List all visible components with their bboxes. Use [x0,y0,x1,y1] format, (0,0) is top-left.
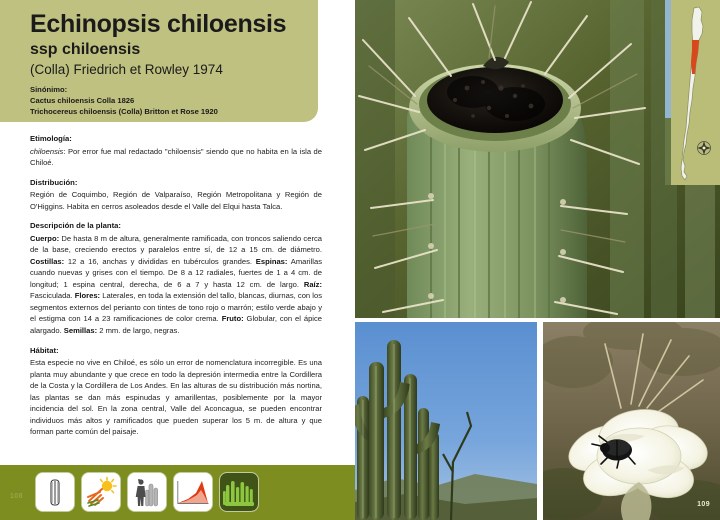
section-heading: Etimología: [30,133,322,145]
flower-beetle-photo [543,322,720,520]
title-panel: Echinopsis chiloensis ssp chiloensis (Co… [0,0,318,122]
pictogram-strip [36,473,258,511]
section-body: Cuerpo: De hasta 8 m de altura, generalm… [30,233,322,337]
section-descripcion: Descripción de la planta: Cuerpo: De has… [30,220,322,336]
right-photo-page: 109 [355,0,720,520]
section-etimologia: Etimología: chiloensis: Por error fue ma… [30,133,322,169]
title-block: Echinopsis chiloensis ssp chiloensis (Co… [30,12,310,78]
distribution-map [665,0,720,185]
human-scale-icon[interactable] [128,473,166,511]
synonym-entry: Trichocereus chiloensis (Colla) Britton … [30,106,315,117]
synonym-block: Sinónimo: Cactus chiloensis Colla 1826 T… [30,84,315,117]
left-text-page: Echinopsis chiloensis ssp chiloensis (Co… [0,0,355,520]
section-habitat: Hábitat: Esta especie no vive en Chiloé,… [30,345,322,438]
section-body: Esta especie no vive en Chiloé, es sólo … [30,357,322,438]
cactus-group-icon[interactable] [220,473,258,511]
section-heading: Hábitat: [30,345,322,357]
synonym-label: Sinónimo: [30,84,315,95]
section-heading: Descripción de la planta: [30,220,322,232]
subspecies-name: ssp chiloensis [30,41,310,59]
species-name: Echinopsis chiloensis [30,12,310,38]
footer-bar: 108 [0,465,355,520]
section-distribucion: Distribución: Región de Coquimbo, Región… [30,177,322,213]
elevation-profile-icon[interactable] [174,473,212,511]
taxon-authority: (Colla) Friedrich et Rowley 1974 [30,62,310,78]
page-number-left: 108 [10,493,23,500]
page-number-right: 109 [697,501,710,508]
cactus-stand-photo [355,322,537,520]
columnar-stem-icon[interactable] [36,473,74,511]
body-text: Etimología: chiloensis: Por error fue ma… [30,133,322,446]
section-body: chiloensis: Por error fue mal redactado … [30,146,322,169]
section-body: Región de Coquimbo, Región de Valparaíso… [30,189,322,212]
flower-sun-icon[interactable] [82,473,120,511]
section-heading: Distribución: [30,177,322,189]
synonym-entry: Cactus chiloensis Colla 1826 [30,95,315,106]
book-spread: Echinopsis chiloensis ssp chiloensis (Co… [0,0,720,520]
